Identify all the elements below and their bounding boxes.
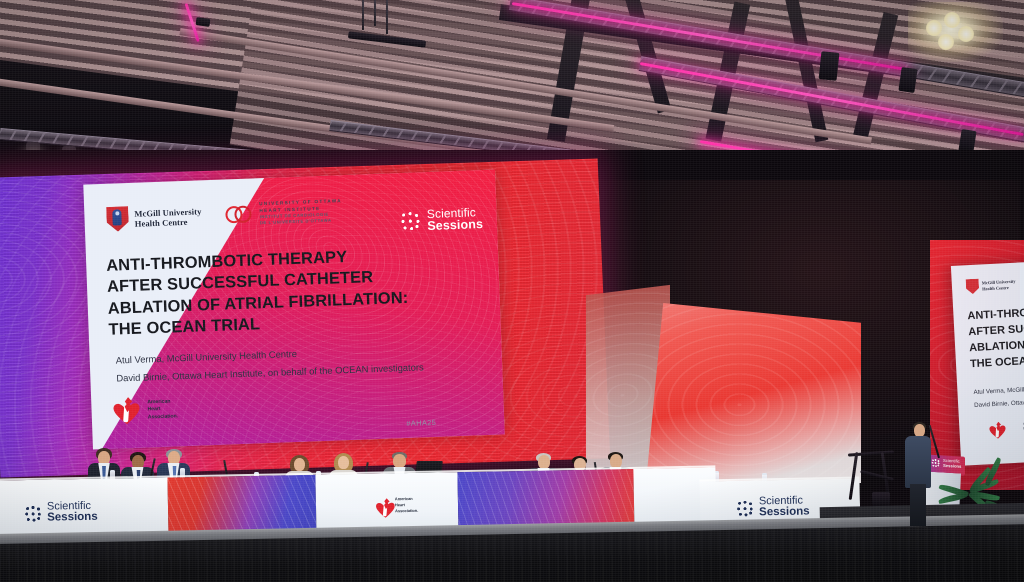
- hanging-cable: [386, 0, 388, 34]
- slide-title: Anti-thrombotic therapy after successful…: [106, 245, 409, 341]
- side-title-line-1: Anti-thromb: [967, 301, 1024, 325]
- side-aha-logo: American Heart Association.: [989, 419, 1024, 440]
- uottawa-heart-institute-logo: University of Ottawa Heart Institute Ins…: [225, 198, 343, 228]
- mcgill-shield-icon: [106, 206, 129, 232]
- interlocking-rings-icon: [225, 205, 253, 224]
- bright-stage-spotlight: [908, 2, 1003, 62]
- american-heart-association-logo: American Heart Association.: [376, 495, 419, 516]
- scientific-sessions-line2: Sessions: [427, 218, 483, 233]
- dotted-globe-icon: [400, 210, 422, 232]
- desk-sci-line2: Sessions: [47, 512, 98, 525]
- aha-heart-torch-icon: [989, 422, 1001, 434]
- desk-aha-line3: Association.: [395, 508, 418, 514]
- side-screen-authors: Atul Verma, McGill U David Birnie, Ottaw: [973, 384, 1024, 412]
- presentation-slide: McGill University Health Centre Universi…: [83, 170, 504, 450]
- mcgill-university-health-centre-logo: McGill University Health Centre: [106, 204, 202, 232]
- stage-monitor: [872, 492, 890, 506]
- speaker-legs: [910, 484, 926, 526]
- moving-head-light: [898, 67, 917, 93]
- american-heart-association-logo: American Heart Association.: [113, 395, 178, 425]
- hanging-cable: [362, 0, 364, 30]
- angled-set-panel-front: [646, 303, 861, 483]
- dotted-globe-icon: [24, 504, 42, 522]
- side-author-2: David Birnie, Ottaw: [974, 397, 1024, 413]
- slide-hashtag: #AHA25: [406, 418, 436, 428]
- aha-heart-torch-icon: [113, 397, 142, 426]
- scientific-sessions-logo: Scientific Sessions: [400, 206, 484, 234]
- scientific-sessions-logo: Scientific Sessions: [736, 495, 810, 520]
- mcgill-logo-line2: Health Centre: [135, 216, 202, 228]
- side-screen-title: Anti-thromb after succe ablation of The …: [967, 301, 1024, 373]
- dotted-globe-icon: [931, 458, 940, 468]
- hanging-cable: [374, 0, 376, 26]
- secondary-presentation-screen: McGill University Health Centre Anti-thr…: [951, 258, 1024, 466]
- aha-logo-line3: Association.: [148, 413, 179, 422]
- scientific-sessions-logo: Scientific Sessions: [24, 501, 98, 526]
- side-mcgill-logo: McGill University Health Centre: [966, 277, 1016, 295]
- aha-heart-torch-icon: [376, 498, 391, 513]
- moving-head-light: [819, 51, 840, 81]
- mcgill-shield-icon: [966, 279, 980, 295]
- side-mcgill-line2: Health Centre: [982, 284, 1016, 291]
- side-screen-logos: McGill University Health Centre: [966, 275, 1024, 294]
- conference-stage-photo: McGill University Health Centre Universi…: [0, 0, 1024, 582]
- dotted-globe-icon: [736, 499, 754, 517]
